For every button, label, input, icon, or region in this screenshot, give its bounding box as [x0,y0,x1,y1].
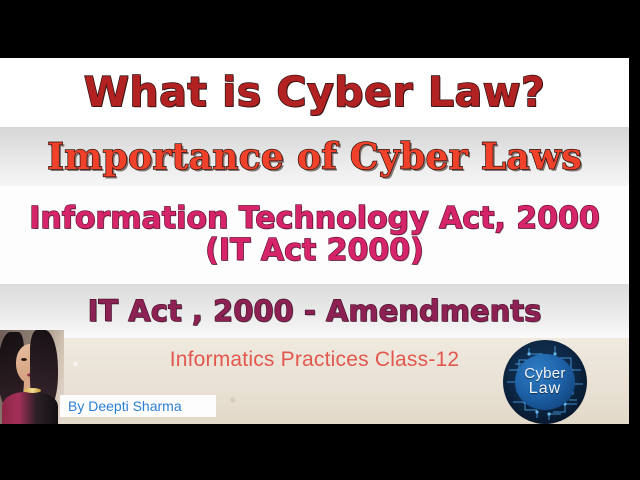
byline-text: By Deepti Sharma [60,398,182,414]
heading-band-it-act-amendments: IT Act , 2000 - Amendments [0,284,629,338]
logo-text-line2: Law [529,381,561,397]
photo-eye-left [21,358,27,361]
heading-band-what-is-cyber-law: What is Cyber Law? [0,58,629,126]
byline-chip: By Deepti Sharma [60,395,216,417]
heading-it-act-line1: Information Technology Act, 2000 [29,203,600,234]
presenter-photo [0,330,64,424]
cyber-law-logo: Cyber Law [503,340,587,424]
logo-inner-disc: Cyber Law [515,354,575,409]
logo-text-line1: Cyber [524,366,566,381]
heading-what-is-cyber-law: What is Cyber Law? [84,68,546,116]
photo-torso [2,392,58,424]
logo-disc: Cyber Law [503,340,587,424]
heading-band-importance-of-cyber-laws: Importance of Cyber Laws [0,127,629,186]
letterbox-right [629,0,640,480]
letterbox-top [0,0,640,58]
heading-it-act-line2: (IT Act 2000) [205,235,424,266]
photo-necklace [24,388,41,393]
heading-band-it-act-2000: Information Technology Act, 2000 (IT Act… [0,186,629,283]
heading-it-act-amendments: IT Act , 2000 - Amendments [88,294,542,328]
slide-content-frame: What is Cyber Law? Importance of Cyber L… [0,58,629,424]
video-slide: What is Cyber Law? Importance of Cyber L… [0,0,640,480]
heading-importance-of-cyber-laws: Importance of Cyber Laws [47,136,582,178]
letterbox-bottom [0,424,640,480]
